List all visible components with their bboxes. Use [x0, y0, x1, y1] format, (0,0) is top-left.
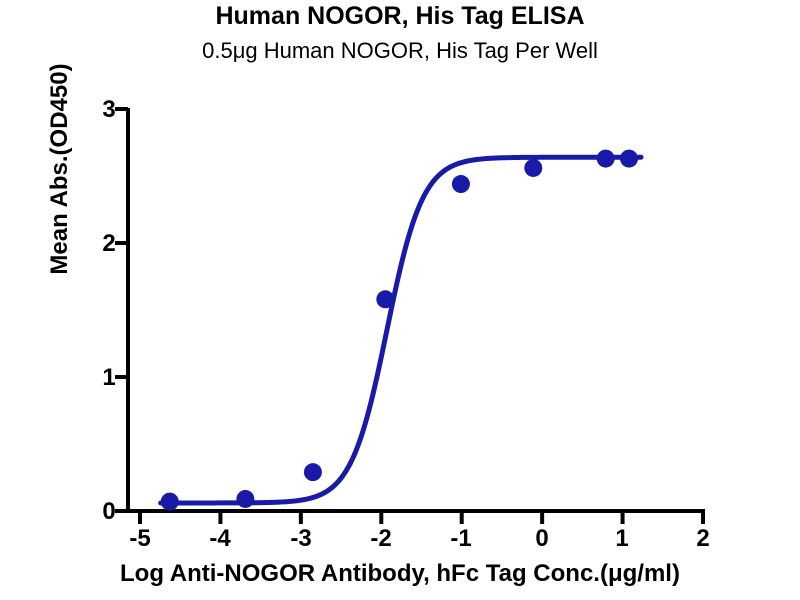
y-axis-title: Mean Abs.(OD450) [46, 0, 74, 369]
elisa-chart-figure: Human NOGOR, His Tag ELISA 0.5μg Human N… [0, 0, 800, 600]
data-point [452, 175, 470, 193]
y-axis-ticks [115, 109, 128, 511]
chart-title: Human NOGOR, His Tag ELISA [0, 2, 800, 31]
data-point [236, 490, 254, 508]
sigmoid-fit-curve [161, 157, 641, 503]
data-point [524, 159, 542, 177]
x-tick-label-minus1: -1 [441, 525, 481, 553]
data-point [376, 290, 394, 308]
x-axis-title: Log Anti-NOGOR Antibody, hFc Tag Conc.(μ… [0, 560, 800, 588]
x-tick-label-1: 1 [602, 525, 642, 553]
data-point [620, 150, 638, 168]
x-tick-label-minus2: -2 [361, 525, 401, 553]
data-point [304, 463, 322, 481]
x-tick-label-0: 0 [522, 525, 562, 553]
data-point-markers [161, 150, 638, 511]
x-axis-ticks [140, 511, 703, 524]
x-tick-label-2: 2 [683, 525, 723, 553]
y-tick-label-2: 2 [94, 230, 124, 258]
data-point [597, 150, 615, 168]
x-tick-label-minus4: -4 [200, 525, 240, 553]
x-tick-label-minus5: -5 [120, 525, 160, 553]
chart-subtitle: 0.5μg Human NOGOR, His Tag Per Well [0, 38, 800, 64]
y-tick-label-1: 1 [94, 364, 124, 392]
data-point [161, 493, 179, 511]
y-tick-label-3: 3 [94, 96, 124, 124]
x-tick-label-minus3: -3 [281, 525, 321, 553]
y-tick-label-0: 0 [94, 498, 124, 526]
